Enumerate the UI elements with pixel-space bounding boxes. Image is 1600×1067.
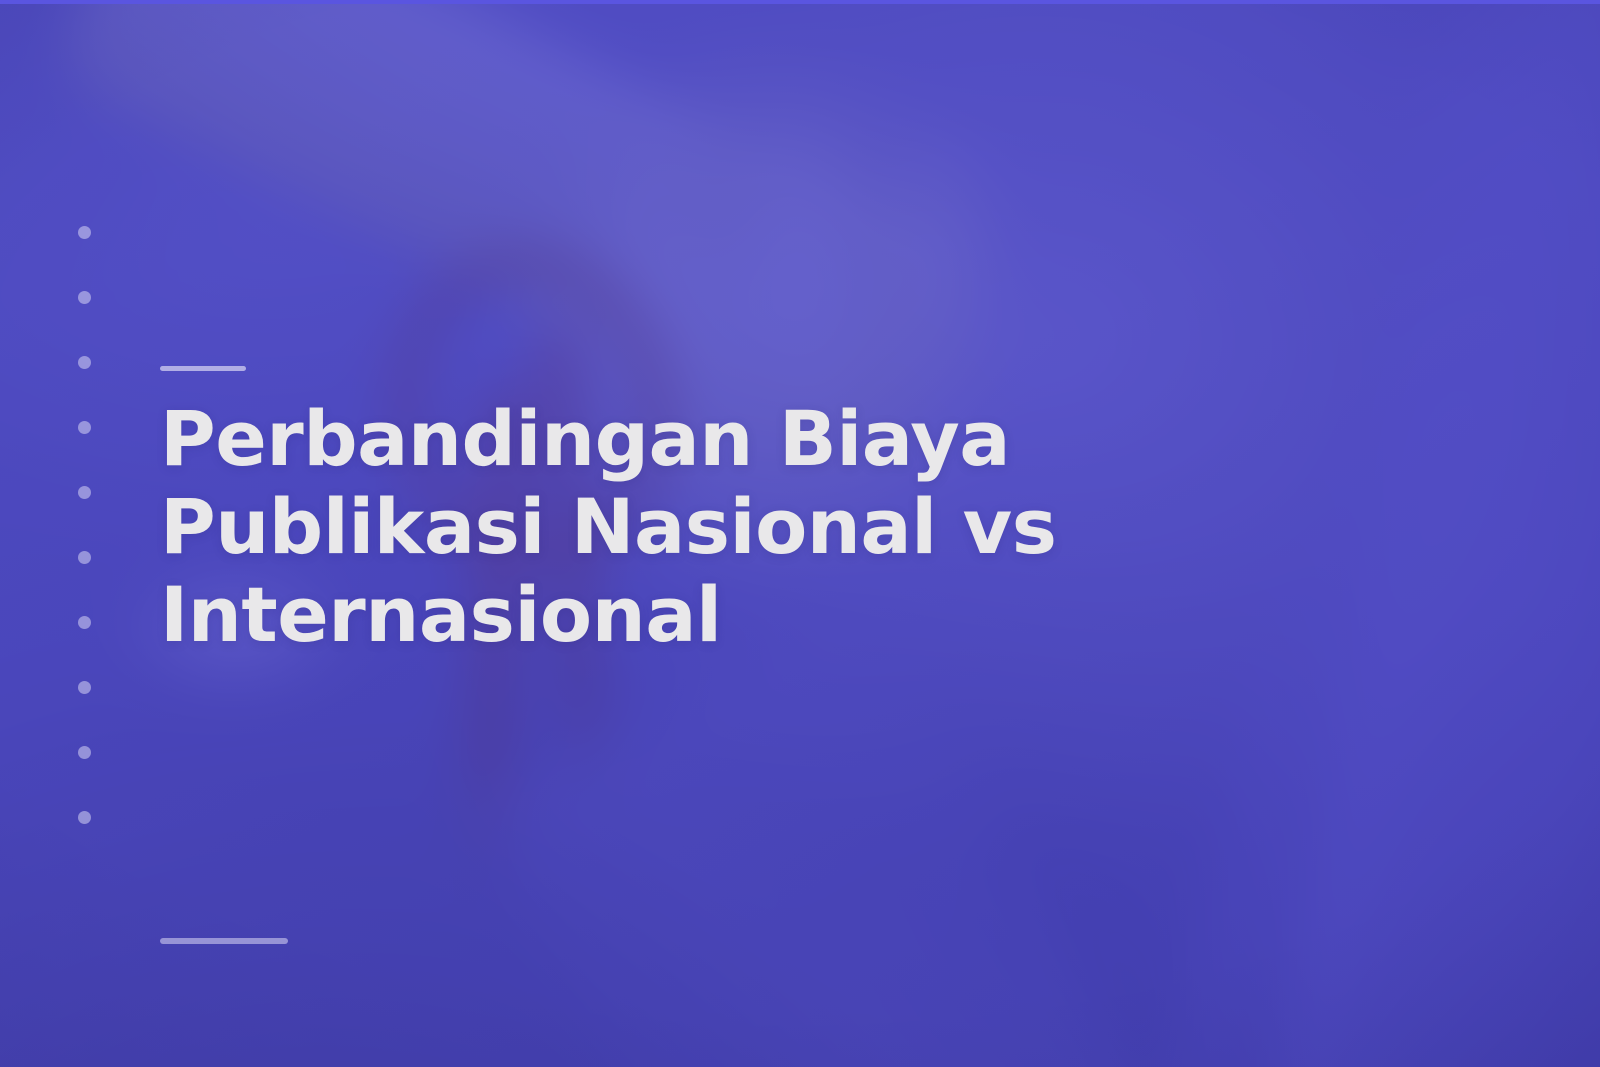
decorative-dot-rail bbox=[78, 226, 92, 824]
title-accent-rule bbox=[160, 366, 246, 371]
rail-dot bbox=[78, 291, 91, 304]
rail-dot bbox=[78, 421, 91, 434]
top-edge-accent-bar bbox=[0, 0, 1600, 4]
rail-dot bbox=[78, 811, 91, 824]
rail-dot bbox=[78, 486, 91, 499]
slide-title: Perbandingan Biaya Publikasi Nasional vs… bbox=[160, 395, 1370, 659]
rail-dot bbox=[78, 226, 91, 239]
footer-accent-rule bbox=[160, 938, 288, 944]
title-slide: Perbandingan Biaya Publikasi Nasional vs… bbox=[0, 0, 1600, 1067]
rail-dot bbox=[78, 746, 91, 759]
rail-dot bbox=[78, 681, 91, 694]
headline-block: Perbandingan Biaya Publikasi Nasional vs… bbox=[160, 366, 1410, 659]
rail-dot bbox=[78, 616, 91, 629]
rail-dot bbox=[78, 356, 91, 369]
rail-dot bbox=[78, 551, 91, 564]
